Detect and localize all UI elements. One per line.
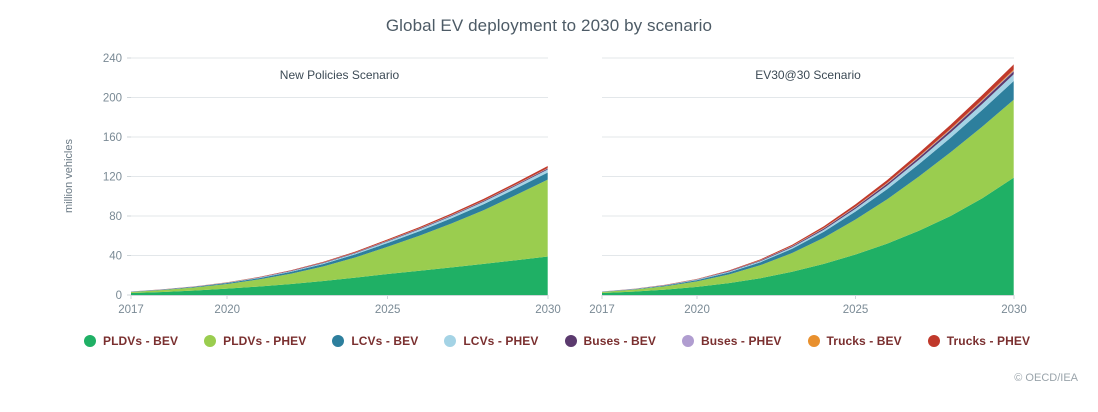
chart-panel: 2017202020252030New Policies Scenario <box>118 58 561 316</box>
x-tick-label: 2017 <box>589 304 615 316</box>
legend-swatch-icon <box>565 335 577 347</box>
legend-item-label: LCVs - PHEV <box>463 334 538 348</box>
legend-swatch-icon <box>682 335 694 347</box>
x-tick-label: 2020 <box>684 304 710 316</box>
x-tick-label: 2030 <box>535 304 561 316</box>
legend-swatch-icon <box>332 335 344 347</box>
ev-deployment-area-chart: 2017202020252030New Policies Scenario201… <box>0 0 1098 330</box>
legend-item[interactable]: Trucks - BEV <box>808 334 902 348</box>
legend-item-label: Buses - PHEV <box>701 334 782 348</box>
y-tick-label: 40 <box>109 251 122 263</box>
legend-swatch-icon <box>808 335 820 347</box>
legend-item[interactable]: PLDVs - PHEV <box>204 334 306 348</box>
panel-title: EV30@30 Scenario <box>755 68 861 82</box>
y-tick-label: 80 <box>109 211 122 223</box>
y-tick-label: 160 <box>103 132 122 144</box>
legend-item[interactable]: Buses - PHEV <box>682 334 782 348</box>
y-tick-label: 120 <box>103 172 122 184</box>
x-tick-label: 2030 <box>1001 304 1027 316</box>
legend-item[interactable]: Trucks - PHEV <box>928 334 1030 348</box>
legend-swatch-icon <box>204 335 216 347</box>
legend-item[interactable]: LCVs - PHEV <box>444 334 538 348</box>
chart-legend: PLDVs - BEVPLDVs - PHEVLCVs - BEVLCVs - … <box>84 334 1024 348</box>
y-tick-label: 200 <box>103 93 122 105</box>
legend-item[interactable]: PLDVs - BEV <box>84 334 178 348</box>
legend-swatch-icon <box>928 335 940 347</box>
x-tick-label: 2025 <box>375 304 401 316</box>
legend-item-label: Buses - BEV <box>584 334 656 348</box>
legend-item-label: PLDVs - BEV <box>103 334 178 348</box>
legend-swatch-icon <box>444 335 456 347</box>
legend-item-label: Trucks - PHEV <box>947 334 1030 348</box>
legend-item[interactable]: Buses - BEV <box>565 334 656 348</box>
x-tick-label: 2020 <box>214 304 240 316</box>
y-tick-label: 0 <box>116 290 122 302</box>
legend-item-label: PLDVs - PHEV <box>223 334 306 348</box>
y-tick-label: 240 <box>103 53 122 65</box>
credit-label: © OECD/IEA <box>1014 372 1078 384</box>
legend-swatch-icon <box>84 335 96 347</box>
legend-item-label: Trucks - BEV <box>827 334 902 348</box>
chart-panel: 2017202020252030EV30@30 Scenario <box>589 58 1027 316</box>
y-axis-label: million vehicles <box>63 139 75 213</box>
x-tick-label: 2025 <box>843 304 869 316</box>
legend-item-label: LCVs - BEV <box>351 334 418 348</box>
chart-root: Global EV deployment to 2030 by scenario… <box>0 0 1098 412</box>
x-tick-label: 2017 <box>118 304 144 316</box>
panel-title: New Policies Scenario <box>280 68 400 82</box>
legend-item[interactable]: LCVs - BEV <box>332 334 418 348</box>
